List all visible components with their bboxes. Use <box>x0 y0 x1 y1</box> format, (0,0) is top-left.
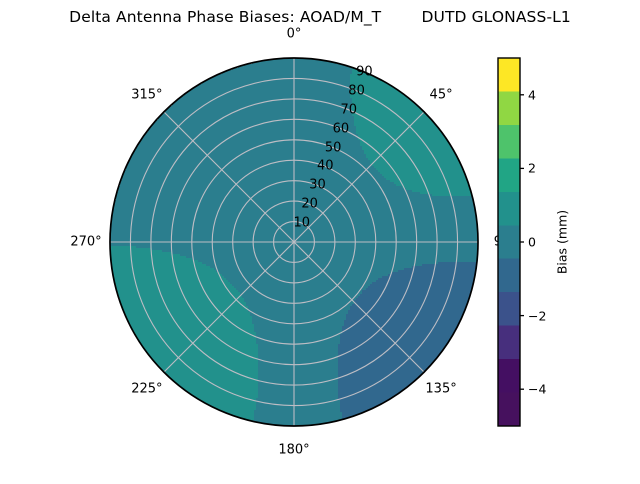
figure-canvas: Delta Antenna Phase Biases: AOAD/M_T DUT… <box>0 0 640 480</box>
colorbar-tick-label-2: 0 <box>528 235 536 250</box>
colorbar-title: Bias (mm) <box>555 210 570 274</box>
colorbar-tick-label-1: 2 <box>528 161 536 176</box>
colorbar-swatches <box>0 0 640 480</box>
colorbar-tick-label-0: 4 <box>528 87 536 102</box>
colorbar-tick-label-4: −4 <box>528 382 546 397</box>
colorbar-tick-label-3: −2 <box>528 308 546 323</box>
